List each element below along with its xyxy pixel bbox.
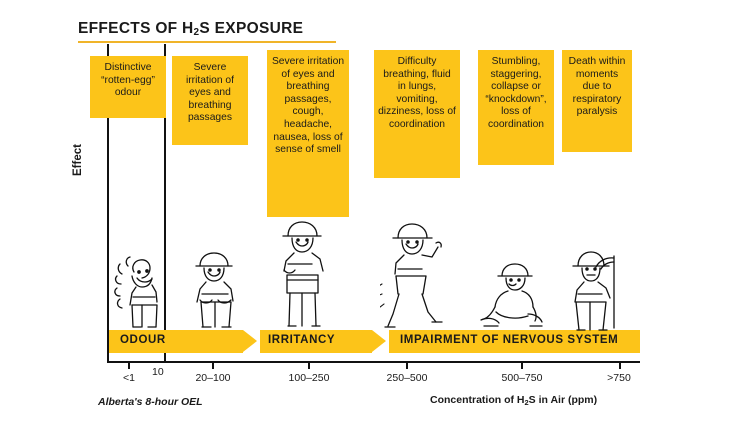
x-axis-tick bbox=[521, 361, 523, 369]
callout-box-severe-irritation-2: Severe irritation of eyes and breathing … bbox=[267, 50, 349, 217]
page-title-post: S EXPOSURE bbox=[199, 20, 303, 37]
x-axis-tick-label: 250–500 bbox=[367, 372, 447, 384]
zone-arrow-odour bbox=[243, 330, 257, 352]
x-axis-tick bbox=[308, 361, 310, 369]
page-title-pre: EFFECTS OF H bbox=[78, 20, 194, 37]
x-axis-title-subscript: 2 bbox=[525, 398, 529, 407]
zone-label-irritancy: IRRITANCY bbox=[268, 334, 335, 346]
diagram-root: EFFECTS OF H2S EXPOSURE Effect 10 Albert… bbox=[0, 0, 750, 437]
callout-box-severe-irritation-1: Severe irritation of eyes and breathing … bbox=[172, 56, 248, 145]
callout-box-difficulty-breathing: Difficulty breathing, fluid in lungs, vo… bbox=[374, 50, 460, 178]
x-axis-tick bbox=[619, 361, 621, 369]
figure-person-covering-face-hardhat bbox=[186, 250, 248, 330]
x-axis-title-post: S in Air (ppm) bbox=[529, 394, 597, 406]
x-axis-title-pre: Concentration of H bbox=[430, 394, 525, 406]
x-axis-tick-label: 20–100 bbox=[173, 372, 253, 384]
x-axis-tick-label: 500–750 bbox=[482, 372, 562, 384]
oel-value-label: 10 bbox=[152, 366, 164, 378]
zone-label-impairment: IMPAIRMENT OF NERVOUS SYSTEM bbox=[400, 334, 618, 346]
zone-label-odour: ODOUR bbox=[120, 334, 166, 346]
x-axis-tick bbox=[128, 361, 130, 369]
figure-person-with-scythe-death bbox=[562, 248, 628, 334]
page-title: EFFECTS OF H2S EXPOSURE bbox=[78, 20, 303, 38]
figure-person-collapsed-sitting bbox=[478, 262, 550, 330]
oel-note-label: Alberta's 8-hour OEL bbox=[98, 396, 203, 408]
x-axis-tick-label: >750 bbox=[594, 372, 644, 384]
y-axis-label: Effect bbox=[72, 162, 84, 176]
x-axis-tick-label: <1 bbox=[109, 372, 149, 384]
callout-box-odour: Distinctive “rotten-egg” odour bbox=[90, 56, 166, 118]
figure-person-smelling-odour bbox=[112, 252, 174, 330]
callout-box-death: Death within moments due to respiratory … bbox=[562, 50, 632, 152]
figure-person-coughing-hardhat bbox=[272, 218, 334, 330]
callout-box-stumbling: Stumbling, staggering, collapse or “knoc… bbox=[478, 50, 554, 165]
x-axis-line bbox=[107, 361, 640, 363]
x-axis-title: Concentration of H2S in Air (ppm) bbox=[430, 394, 597, 406]
x-axis-tick bbox=[406, 361, 408, 369]
figure-person-staggering-running bbox=[380, 222, 454, 330]
zone-arrow-irritancy bbox=[372, 330, 386, 352]
x-axis-tick-label: 100–250 bbox=[269, 372, 349, 384]
title-underline bbox=[78, 41, 336, 43]
x-axis-tick bbox=[212, 361, 214, 369]
page-title-subscript: 2 bbox=[194, 27, 200, 38]
